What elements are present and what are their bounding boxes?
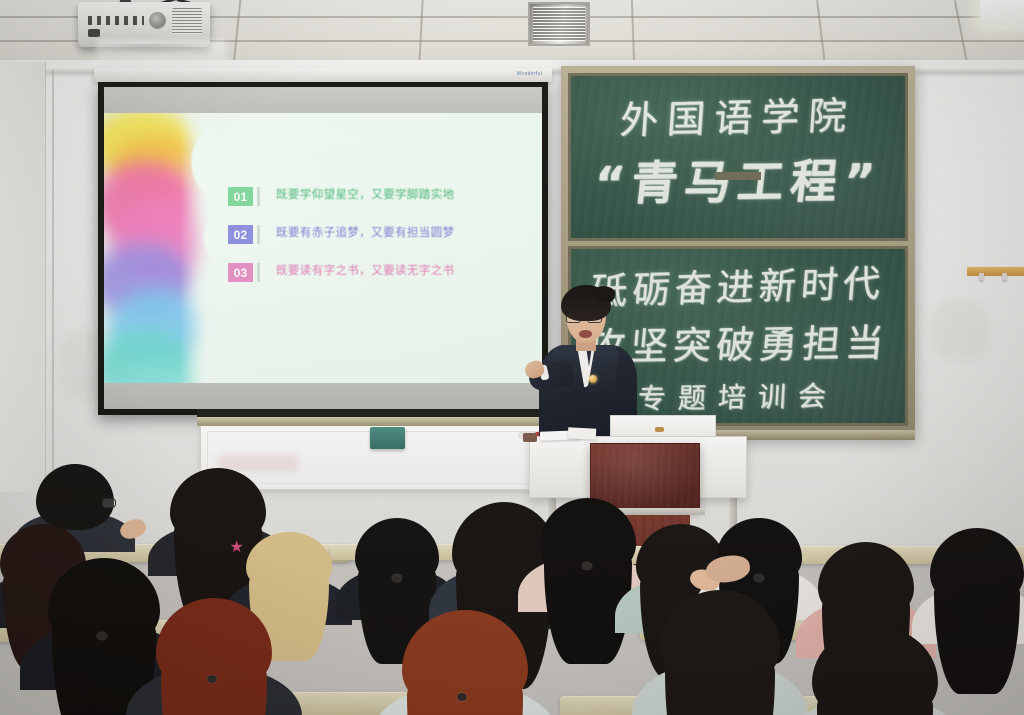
bullet-text: 既要有赤子追梦，又要有担当圆梦	[276, 225, 455, 241]
bullet-number-badge: 01	[228, 187, 253, 206]
wall-left-pillar	[0, 62, 46, 492]
chalkboard-center-clip	[715, 172, 761, 180]
wall-crack	[52, 70, 54, 470]
coat-hook-2[interactable]	[1002, 273, 1007, 281]
list-item: 02 既要有赤子追梦，又要有担当圆梦	[228, 225, 524, 244]
projection-screen-housing[interactable]: Wonderful	[94, 68, 552, 82]
list-item: 01 既要学仰望星空，又要学脚踏实地	[228, 187, 524, 206]
desk-papers-secondary	[568, 427, 597, 439]
bullet-number-badge: 03	[228, 263, 253, 282]
screen-brand-label: Wonderful	[517, 71, 542, 77]
bullet-divider	[257, 225, 260, 244]
list-item: 03 既要读有字之书，又要读无字之书	[228, 263, 524, 282]
bullet-text: 既要学仰望星空，又要学脚踏实地	[276, 187, 455, 203]
ceiling-air-vent	[528, 2, 590, 46]
audience-head	[246, 532, 332, 594]
slide-bullet-list: 01 既要学仰望星空，又要学脚踏实地 02 既要有赤子追梦，又要有担当圆梦 03…	[228, 187, 524, 301]
projector-power-port	[88, 29, 100, 37]
audience-ponytail	[569, 562, 609, 638]
chalk-text-institute: 外国语学院	[569, 84, 907, 146]
speaker-mouth	[579, 330, 592, 338]
whiteboard-tray	[197, 417, 553, 426]
bullet-divider	[257, 263, 260, 282]
hair-tie	[392, 574, 402, 582]
chalkboard-upper-panel: 外国语学院 “青马工程”	[568, 73, 908, 241]
audience-ponytail	[82, 632, 129, 715]
projector-vent	[172, 8, 202, 34]
hair-tie	[207, 675, 217, 683]
audience-glasses	[102, 498, 116, 508]
audience-head	[930, 528, 1024, 608]
ceiling-light-panel	[980, 0, 1024, 26]
projection-screen: 01 既要学仰望星空，又要学脚踏实地 02 既要有赤子追梦，又要有担当圆梦 03…	[98, 81, 548, 415]
hair-tie	[754, 574, 764, 582]
speaker-lapel-pin	[589, 375, 597, 383]
bullet-number-badge: 02	[228, 225, 253, 244]
bullet-divider	[257, 187, 260, 206]
audience-head	[36, 464, 114, 530]
podium-panel-marking	[655, 427, 664, 432]
audience-head	[170, 468, 266, 546]
classroom-photo: 外国语学院 “青马工程” 砥砺奋进新时代 攻坚突破勇担当 专题培训会 Wonde…	[0, 0, 1024, 715]
slide-top-band	[104, 87, 542, 113]
star-hairclip-icon: ★	[230, 540, 244, 556]
slide-bottom-band	[104, 383, 542, 409]
audience-seating: ★	[0, 440, 1024, 715]
coat-hook-rail	[967, 267, 1024, 276]
bullet-text: 既要读有字之书，又要读无字之书	[276, 263, 455, 279]
presentation-slide: 01 既要学仰望星空，又要学脚踏实地 02 既要有赤子追梦，又要有担当圆梦 03…	[104, 113, 542, 383]
projector-lens	[149, 12, 166, 29]
watercolor-head-silhouette	[104, 113, 212, 383]
coat-hook-1[interactable]	[979, 273, 984, 281]
hair-tie	[97, 632, 107, 640]
audience-ponytail	[380, 574, 415, 641]
projector-ports	[88, 16, 144, 25]
projection-screen-surface: 01 既要学仰望星空，又要学脚踏实地 02 既要有赤子追梦，又要有担当圆梦 03…	[104, 87, 542, 409]
